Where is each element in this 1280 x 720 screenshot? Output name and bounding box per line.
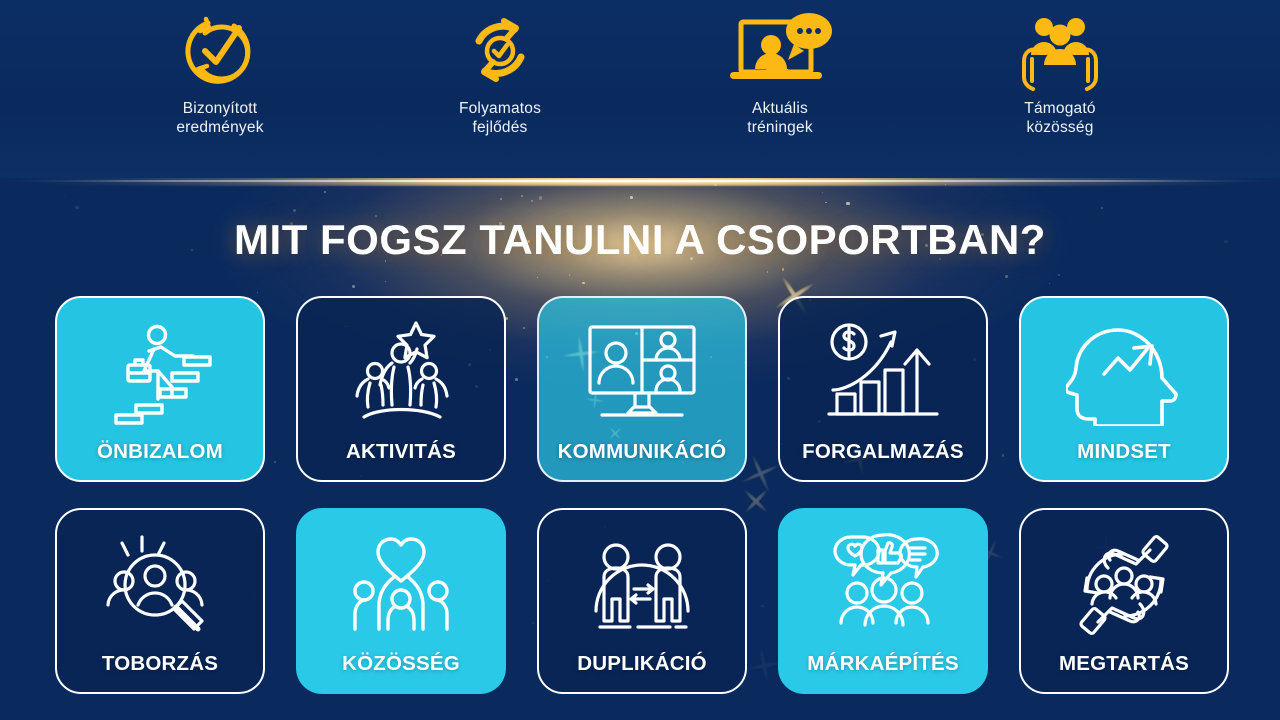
topic-card-label: DUPLIKÁCIÓ (539, 652, 745, 692)
slide-stage: Bizonyított eredmények Foly (0, 0, 1280, 720)
topic-card-label: KOMMUNIKÁCIÓ (539, 440, 745, 480)
topic-card-label: ÖNBIZALOM (57, 440, 263, 480)
topic-card-label: MEGTARTÁS (1021, 652, 1227, 692)
feature-label-line1: Támogató (1024, 100, 1095, 117)
feature-label-line1: Folyamatos (459, 100, 541, 117)
topic-card-label: MÁRKAÉPÍTÉS (780, 652, 986, 692)
people-heart-icon (298, 510, 504, 652)
verified-check-circle-icon (175, 10, 265, 92)
feature-label-line2: közösség (1026, 119, 1093, 136)
topic-card-label: FORGALMAZÁS (780, 440, 986, 480)
social-feedback-people-icon (780, 510, 986, 652)
page-title: MIT FOGSZ TANULNI A CSOPORTBAN? (0, 216, 1280, 264)
feature-item-supportive-community: Támogató közösség (920, 0, 1200, 137)
feature-label-line2: eredmények (176, 119, 263, 136)
feature-item-current-trainings: Aktuális tréningek (640, 0, 920, 137)
dollar-growth-chart-icon (780, 298, 986, 440)
topic-card-kommunikacio[interactable]: KOMMUNIKÁCIÓ (537, 296, 747, 482)
topic-card-megtartas[interactable]: MEGTARTÁS (1019, 508, 1229, 694)
head-arrow-up-icon (1021, 298, 1227, 440)
feature-label-line1: Aktuális (752, 100, 808, 117)
topic-card-aktivitas[interactable]: AKTIVITÁS (296, 296, 506, 482)
laptop-webinar-icon (724, 10, 836, 92)
topic-card-toborzas[interactable]: TOBORZÁS (55, 508, 265, 694)
feature-label: Aktuális tréningek (747, 99, 813, 137)
feature-label: Folyamatos fejlődés (459, 99, 541, 137)
two-people-exchange-icon (539, 510, 745, 652)
feature-item-proven-results: Bizonyított eredmények (80, 0, 360, 137)
feature-label-line2: tréningek (747, 119, 813, 136)
people-celebrating-star-icon (298, 298, 504, 440)
hands-retention-cycle-icon (1021, 510, 1227, 652)
continuous-refresh-check-icon (457, 10, 543, 92)
person-climbing-stairs-icon (57, 298, 263, 440)
topic-card-onbizalom[interactable]: ÖNBIZALOM (55, 296, 265, 482)
topic-card-forgalmazas[interactable]: FORGALMAZÁS (778, 296, 988, 482)
topic-card-label: AKTIVITÁS (298, 440, 504, 480)
topic-card-kozosseg[interactable]: KÖZÖSSÉG (296, 508, 506, 694)
feature-label-line1: Bizonyított (183, 100, 258, 117)
topic-card-duplikacio[interactable]: DUPLIKÁCIÓ (537, 508, 747, 694)
hands-holding-people-icon (1011, 10, 1109, 92)
topic-card-markaepites[interactable]: MÁRKAÉPÍTÉS (778, 508, 988, 694)
feature-item-continuous-development: Folyamatos fejlődés (360, 0, 640, 137)
topic-card-label: TOBORZÁS (57, 652, 263, 692)
feature-label-line2: fejlődés (472, 119, 527, 136)
topic-card-label: KÖZÖSSÉG (298, 652, 504, 692)
topics-grid: ÖNBIZALOM (55, 296, 1227, 694)
feature-label: Támogató közösség (1024, 99, 1095, 137)
magnifier-people-search-icon (57, 510, 263, 652)
topic-card-mindset[interactable]: MINDSET (1019, 296, 1229, 482)
topic-card-label: MINDSET (1021, 440, 1227, 480)
video-call-screen-icon (539, 298, 745, 440)
feature-row: Bizonyított eredmények Foly (0, 0, 1280, 178)
feature-label: Bizonyított eredmények (176, 99, 263, 137)
